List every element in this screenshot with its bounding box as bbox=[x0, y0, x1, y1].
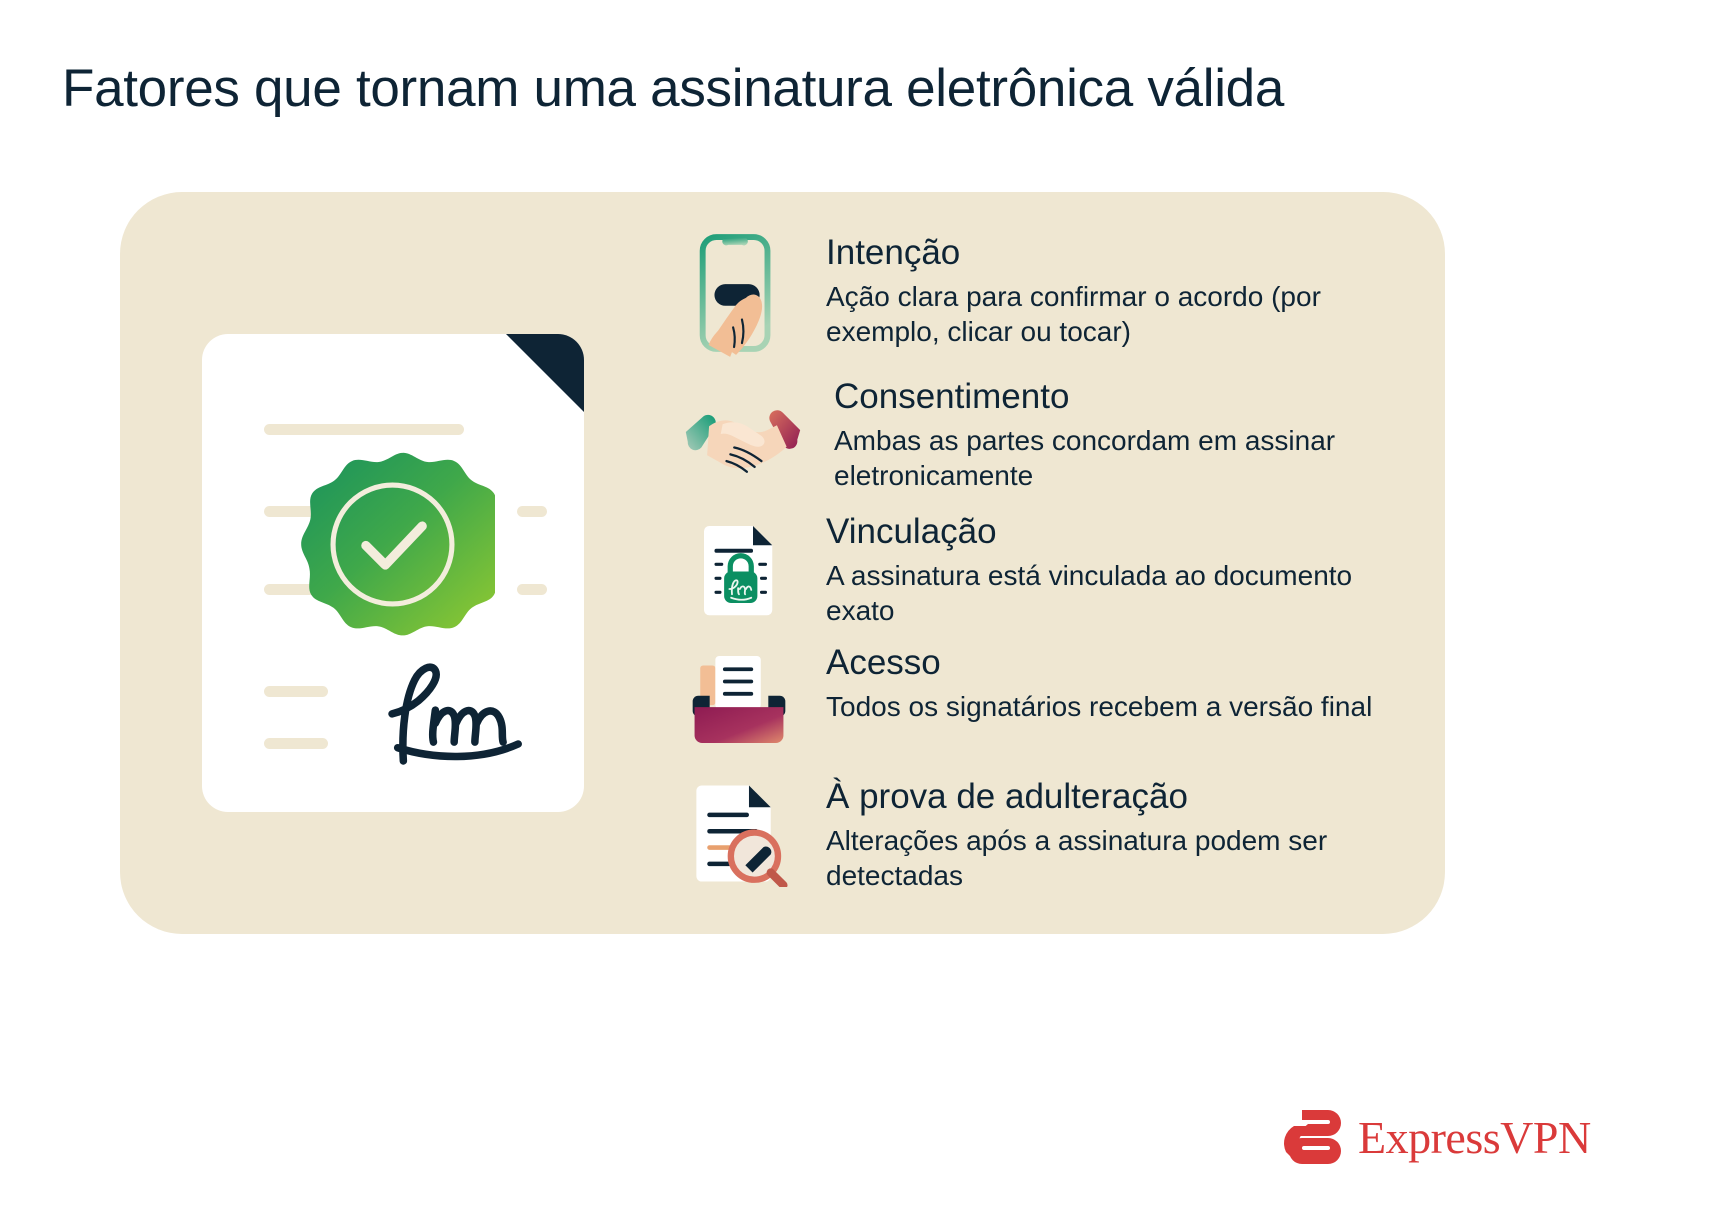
handwritten-signature-icon bbox=[377, 652, 537, 772]
expressvpn-wordmark: ExpressVPN bbox=[1358, 1111, 1591, 1164]
handshake-icon bbox=[680, 374, 806, 492]
page-title: Fatores que tornam uma assinatura eletrô… bbox=[62, 58, 1284, 119]
list-item-text: Consentimento Ambas as partes concordam … bbox=[806, 374, 1420, 493]
document-text-line bbox=[264, 738, 328, 749]
check-seal-badge-icon bbox=[290, 442, 495, 647]
list-item-title: Intenção bbox=[826, 234, 1420, 273]
list-item-title: Acesso bbox=[826, 644, 1420, 683]
list-item-text: Acesso Todos os signatários recebem a ve… bbox=[798, 640, 1420, 724]
list-item: À prova de adulteração Alterações após a… bbox=[680, 774, 1420, 893]
document-lock-icon bbox=[680, 509, 798, 627]
folded-page-corner-icon bbox=[506, 334, 584, 412]
list-item-text: Intenção Ação clara para confirmar o aco… bbox=[798, 234, 1420, 349]
phone-tap-icon bbox=[680, 234, 798, 352]
factors-list: Intenção Ação clara para confirmar o aco… bbox=[680, 234, 1420, 915]
list-item-text: À prova de adulteração Alterações após a… bbox=[798, 774, 1420, 893]
list-item-text: Vinculação A assinatura está vinculada a… bbox=[798, 509, 1420, 628]
content-panel: Intenção Ação clara para confirmar o aco… bbox=[120, 192, 1445, 934]
document-text-line bbox=[517, 506, 547, 517]
document-magnifier-icon bbox=[680, 774, 798, 892]
expressvpn-e-mark-icon bbox=[1282, 1108, 1344, 1166]
document-text-line bbox=[517, 584, 547, 595]
list-item-title: Vinculação bbox=[826, 513, 1420, 552]
list-item-title: Consentimento bbox=[834, 378, 1420, 417]
document-text-line bbox=[264, 686, 328, 697]
list-item: Intenção Ação clara para confirmar o aco… bbox=[680, 234, 1420, 352]
list-item: Vinculação A assinatura está vinculada a… bbox=[680, 509, 1420, 628]
list-item: Consentimento Ambas as partes concordam … bbox=[680, 374, 1420, 493]
document-text-line bbox=[264, 424, 464, 435]
list-item-description: Ação clara para confirmar o acordo (por … bbox=[826, 279, 1420, 350]
list-item-description: Alterações após a assinatura podem ser d… bbox=[826, 823, 1420, 894]
list-item-title: À prova de adulteração bbox=[826, 778, 1420, 817]
list-item-description: Ambas as partes concordam em assinar ele… bbox=[834, 423, 1420, 494]
expressvpn-logo: ExpressVPN bbox=[1282, 1108, 1591, 1166]
document-inbox-icon bbox=[680, 640, 798, 758]
list-item-description: Todos os signatários recebem a versão fi… bbox=[826, 689, 1420, 724]
list-item-description: A assinatura está vinculada ao documento… bbox=[826, 558, 1420, 629]
list-item: Acesso Todos os signatários recebem a ve… bbox=[680, 640, 1420, 758]
signed-certificate-document bbox=[202, 334, 584, 812]
